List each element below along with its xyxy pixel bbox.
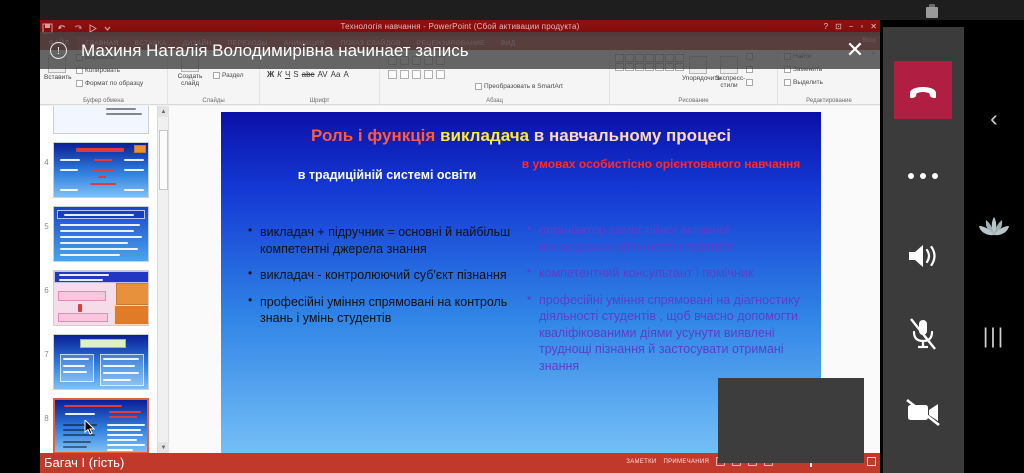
ribbon-group-label-slides: Слайды xyxy=(168,98,259,104)
smartart-icon xyxy=(475,83,482,90)
slide-title-highlight: викладача xyxy=(440,126,529,145)
thumbnail-row-4[interactable]: 4 xyxy=(40,142,158,204)
bold-button[interactable]: Ж xyxy=(267,70,274,79)
character-spacing-button[interactable]: AV xyxy=(318,70,328,79)
thumbnail-slide-5[interactable] xyxy=(53,206,149,262)
ribbon-group-label-paragraph: Абзац xyxy=(380,98,609,104)
help-button[interactable]: ? xyxy=(824,22,828,31)
lotus-home-icon xyxy=(977,215,1011,239)
slide-subtitle-left: в традиційній системі освіти xyxy=(247,168,527,182)
more-options-button[interactable] xyxy=(894,147,952,205)
self-view-video-tile[interactable] xyxy=(718,378,864,463)
slide-title: Роль і функція викладача в навчальному п… xyxy=(221,126,821,146)
ribbon-group-label-clipboard: Буфер обмена xyxy=(40,98,167,104)
section-icon xyxy=(213,72,220,79)
align-right-button[interactable] xyxy=(412,70,421,79)
notes-button[interactable]: ЗАМЕТКИ xyxy=(626,459,656,465)
thumbnails-scrollbar[interactable]: ▲ ▼ xyxy=(158,106,169,453)
scroll-down-icon[interactable]: ▼ xyxy=(158,442,169,453)
list-item: викладач + підручник = основні й найбіль… xyxy=(247,224,517,257)
participant-name-chip: Багач І (гість) xyxy=(44,455,124,470)
thumbnail-row-6[interactable]: 6 xyxy=(40,270,158,332)
microphone-muted-button[interactable] xyxy=(894,305,952,363)
ribbon-group-label-drawing: Рисование xyxy=(610,98,777,104)
format-painter-icon xyxy=(76,80,83,87)
thumbnail-number: 5 xyxy=(40,206,53,231)
list-item: організатор самостійної активної пізнава… xyxy=(526,222,806,255)
align-center-button[interactable] xyxy=(400,70,409,79)
nav-recents-button[interactable]: ||| xyxy=(964,316,1024,358)
ellipsis-icon xyxy=(908,173,938,179)
thumbnail-row-5[interactable]: 5 xyxy=(40,206,158,268)
align-left-button[interactable] xyxy=(388,70,397,79)
left-gutter xyxy=(0,0,40,473)
thumbnail-number: 4 xyxy=(40,142,53,167)
camera-muted-button[interactable] xyxy=(894,383,952,441)
change-case-button[interactable]: Аа xyxy=(331,70,341,79)
battery-icon xyxy=(926,4,938,18)
shape-effects-button[interactable] xyxy=(746,79,753,86)
fit-slide-to-window-icon[interactable] xyxy=(867,457,876,466)
camera-muted-icon xyxy=(905,398,941,426)
thumbnail-number: 7 xyxy=(40,334,53,359)
nav-back-button[interactable]: ‹ xyxy=(964,97,1024,139)
columns-button[interactable] xyxy=(436,70,445,79)
window-buttons[interactable]: ? ⊡ − ▫ ✕ xyxy=(824,22,877,31)
minimize-button[interactable]: − xyxy=(849,22,854,31)
slide-column-right: організатор самостійної активної пізнава… xyxy=(526,222,806,384)
slide-subtitle-right: в умовах особистісно орієнтованого навча… xyxy=(521,156,801,173)
underline-button[interactable]: Ч xyxy=(285,70,290,79)
android-nav-rail: ‹ ||| xyxy=(964,20,1024,473)
thumbnail-slide-7[interactable] xyxy=(53,334,149,390)
thumbnail-row-8[interactable]: 8 xyxy=(40,398,158,453)
restore-button[interactable]: ▫ xyxy=(860,22,863,31)
font-color-button[interactable]: A xyxy=(344,70,349,79)
scroll-up-icon[interactable]: ▲ xyxy=(158,106,169,117)
thumbnail-slide-4[interactable] xyxy=(53,142,149,198)
italic-button[interactable]: К xyxy=(277,70,282,79)
call-controls-rail xyxy=(883,27,964,473)
section-button[interactable]: Раздел xyxy=(213,72,243,79)
select-icon xyxy=(784,79,791,86)
justify-button[interactable] xyxy=(424,70,433,79)
thumbnail-number: 6 xyxy=(40,270,53,295)
close-icon[interactable]: ✕ xyxy=(844,38,866,62)
ribbon-display-options-button[interactable]: ⊡ xyxy=(835,22,842,31)
mouse-cursor-icon xyxy=(84,420,95,435)
thumbnail-row-7[interactable]: 7 xyxy=(40,334,158,396)
comments-button[interactable]: ПРИМЕЧАНИЯ xyxy=(664,459,710,465)
ribbon-group-label-editing: Редактирование xyxy=(778,98,880,104)
speaker-icon xyxy=(906,241,940,271)
strikethrough-button[interactable]: abc xyxy=(302,70,315,79)
recording-notification-text: Махиня Наталія Володимирівна начинает за… xyxy=(81,41,469,61)
format-painter-button[interactable]: Формат по образцу xyxy=(76,80,143,87)
microphone-muted-icon xyxy=(908,317,938,351)
slide-thumbnails-pane[interactable]: 3 4 xyxy=(40,106,158,453)
powerpoint-document-title: Технологія навчання - PowerPoint (Сбой а… xyxy=(40,22,880,31)
close-window-button[interactable]: ✕ xyxy=(870,22,877,31)
convert-to-smartart-button[interactable]: Преобразовать в SmartArt xyxy=(475,83,563,90)
list-item: компетентний консультант і помічник xyxy=(526,265,806,282)
list-item: професійні уміння спрямовані на контроль… xyxy=(247,294,517,327)
select-button[interactable]: Выделить xyxy=(784,79,823,86)
ribbon-group-label-font: Шрифт xyxy=(260,98,379,104)
nav-home-button[interactable] xyxy=(964,206,1024,248)
thumbnail-slide-6[interactable] xyxy=(53,270,149,326)
screen-root: Технологія навчання - PowerPoint (Сбой а… xyxy=(0,0,1024,473)
slide-column-left: викладач + підручник = основні й найбіль… xyxy=(247,224,517,337)
speaker-on-button[interactable] xyxy=(894,227,952,285)
thumbnail-slide-8-selected[interactable] xyxy=(53,398,149,453)
slide-title-part2: в навчальному процесі xyxy=(529,126,731,145)
list-item: викладач - контролюючий суб'єкт пізнання xyxy=(247,267,517,284)
thumbnail-number: 8 xyxy=(40,398,53,423)
thumbnail-row-3[interactable]: 3 xyxy=(40,106,158,140)
slide-title-part1: Роль і функція xyxy=(311,126,440,145)
scrollbar-thumb[interactable] xyxy=(159,130,168,190)
android-status-bar xyxy=(0,0,1024,20)
end-call-icon xyxy=(906,73,940,107)
end-call-button[interactable] xyxy=(894,61,952,119)
shadow-button[interactable]: S xyxy=(293,70,298,79)
thumbnail-slide-3[interactable] xyxy=(53,106,149,134)
info-icon: ! xyxy=(50,42,67,59)
list-item: професійні уміння спрямовані на діагност… xyxy=(526,292,806,375)
recording-notification-banner[interactable]: ! Махиня Наталія Володимирівна начинает … xyxy=(40,32,880,69)
shape-effects-icon xyxy=(746,79,753,86)
